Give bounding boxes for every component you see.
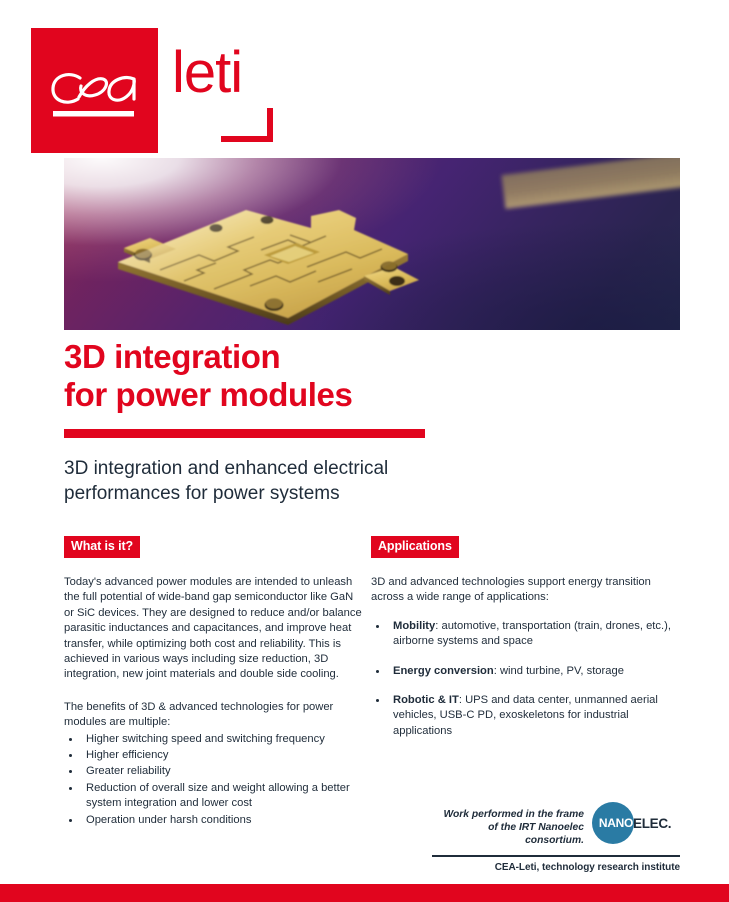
bottom-accent-bar <box>0 884 729 902</box>
hero-image <box>64 158 680 330</box>
list-item: Mobility: automotive, transportation (tr… <box>371 619 671 650</box>
consortium-credit-line-1: Work performed in the frame <box>443 809 584 820</box>
list-item-label: Robotic & IT <box>393 694 459 706</box>
leti-corner-bracket-icon <box>221 108 273 142</box>
benefits-intro: The benefits of 3D & advanced technologi… <box>64 700 364 731</box>
cea-logo-icon <box>48 66 142 128</box>
list-item-text: : wind turbine, PV, storage <box>494 665 624 677</box>
benefits-list: Higher switching speed and switching fre… <box>64 732 364 828</box>
page-subtitle-line-1: 3D integration and enhanced electrical <box>64 458 388 479</box>
title-underline-rule <box>64 429 425 438</box>
power-module-illustration <box>64 158 680 330</box>
consortium-credit: Work performed in the frame of the IRT N… <box>432 808 584 847</box>
list-item-text: : automotive, transportation (train, dro… <box>393 620 671 647</box>
applications-paragraph: 3D and advanced technologies support ene… <box>371 575 671 606</box>
list-item: Energy conversion: wind turbine, PV, sto… <box>371 664 671 679</box>
list-item: Higher switching speed and switching fre… <box>64 732 364 747</box>
footer-divider <box>432 855 680 857</box>
list-item: Reduction of overall size and weight all… <box>64 781 364 812</box>
leti-wordmark: leti <box>172 44 242 102</box>
section-what-is-it: What is it? Today's advanced power modul… <box>64 536 364 828</box>
list-item: Higher efficiency <box>64 748 364 763</box>
consortium-credit-line-2: of the IRT Nanoelec consortium. <box>488 822 584 846</box>
list-item-label: Mobility <box>393 620 435 632</box>
list-item-label: Energy conversion <box>393 665 494 677</box>
list-item: Operation under harsh conditions <box>64 813 364 828</box>
page-title-line-1: 3D integration <box>64 338 280 375</box>
nanoelec-logo: NANO ELEC. <box>592 802 676 844</box>
applications-list: Mobility: automotive, transportation (tr… <box>371 619 671 739</box>
cea-logo-square <box>31 28 158 153</box>
page-subtitle-line-2: performances for power systems <box>64 483 340 504</box>
nanoelec-logo-name: NANO <box>596 816 636 830</box>
section-badge-what-is-it: What is it? <box>64 536 140 558</box>
what-is-it-paragraph: Today's advanced power modules are inten… <box>64 575 364 683</box>
nanoelec-logo-suffix: ELEC. <box>633 816 671 831</box>
list-item: Greater reliability <box>64 764 364 779</box>
page-subtitle: 3D integration and enhanced electrical p… <box>64 456 544 506</box>
page-title-line-2: for power modules <box>64 376 352 413</box>
page-title: 3D integration for power modules <box>64 338 484 414</box>
footer-institute-name: CEA-Leti, technology research institute <box>432 862 680 873</box>
section-applications: Applications 3D and advanced technologie… <box>371 536 671 739</box>
list-item: Robotic & IT: UPS and data center, unman… <box>371 693 671 739</box>
section-badge-applications: Applications <box>371 536 459 558</box>
